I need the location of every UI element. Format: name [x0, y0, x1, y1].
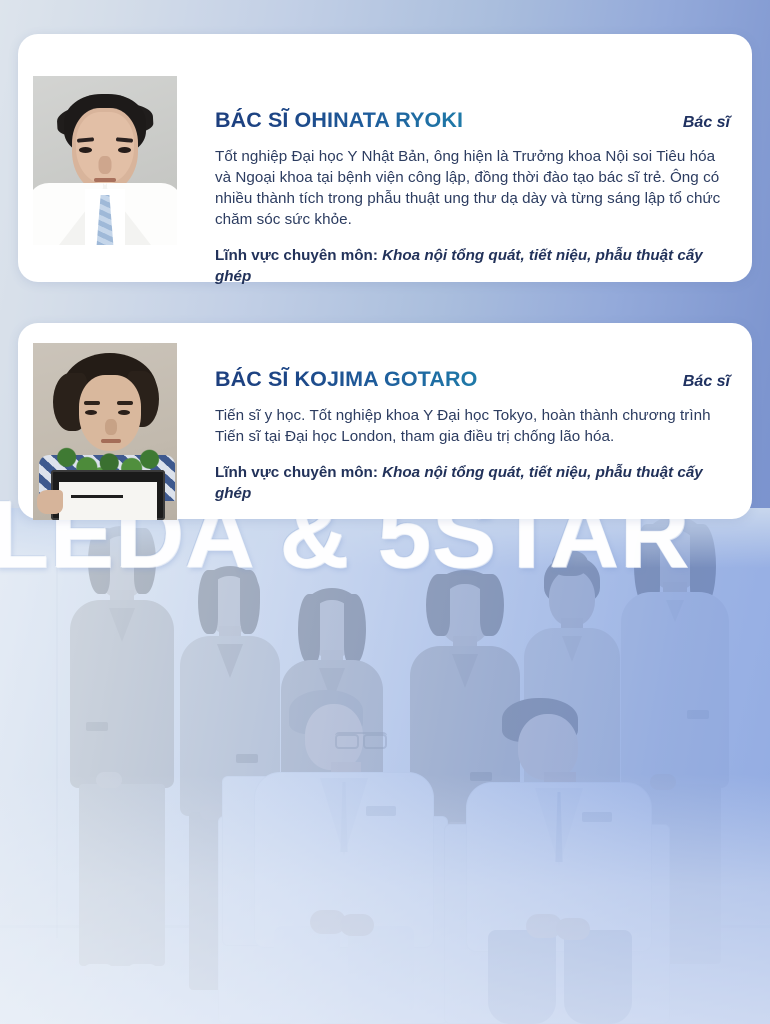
doctor-specialty: Lĩnh vực chuyên môn: Khoa nội tổng quát,… — [215, 245, 730, 287]
doctor-title-row: BÁC SĨ KOJIMA GOTARO Bác sĩ — [215, 367, 730, 392]
doctor-bio: Tiến sĩ y học. Tốt nghiệp khoa Y Đại học… — [215, 405, 730, 447]
doctor-card: BÁC SĨ OHINATA RYOKI Bác sĩ Tốt nghiệp Đ… — [18, 34, 752, 282]
doctor-name: BÁC SĨ KOJIMA GOTARO — [215, 367, 477, 392]
doctor-card: BÁC SĨ KOJIMA GOTARO Bác sĩ Tiến sĩ y họ… — [18, 323, 752, 519]
doctor-role-badge: Bác sĩ — [669, 114, 730, 132]
doctor-photo — [33, 76, 177, 245]
team-photo — [0, 508, 770, 1024]
doctor-info: BÁC SĨ OHINATA RYOKI Bác sĩ Tốt nghiệp Đ… — [215, 108, 730, 287]
doctor-title-row: BÁC SĨ OHINATA RYOKI Bác sĩ — [215, 108, 730, 133]
doctor-role-badge: Bác sĩ — [669, 373, 730, 391]
doctor-specialty: Lĩnh vực chuyên môn: Khoa nội tổng quát,… — [215, 462, 730, 504]
doctor-bio: Tốt nghiệp Đại học Y Nhật Bản, ông hiện … — [215, 146, 730, 230]
specialty-label: Lĩnh vực chuyên môn: — [215, 464, 378, 481]
doctor-info: BÁC SĨ KOJIMA GOTARO Bác sĩ Tiến sĩ y họ… — [215, 367, 730, 504]
doctor-photo — [33, 343, 177, 520]
doctor-name: BÁC SĨ OHINATA RYOKI — [215, 108, 463, 133]
specialty-label: Lĩnh vực chuyên môn: — [215, 247, 378, 264]
poster-canvas: LEDA & 5STAR BÁC SĨ OHINATA RYOK — [0, 0, 770, 1024]
photo-bottom-fade — [0, 774, 770, 1024]
